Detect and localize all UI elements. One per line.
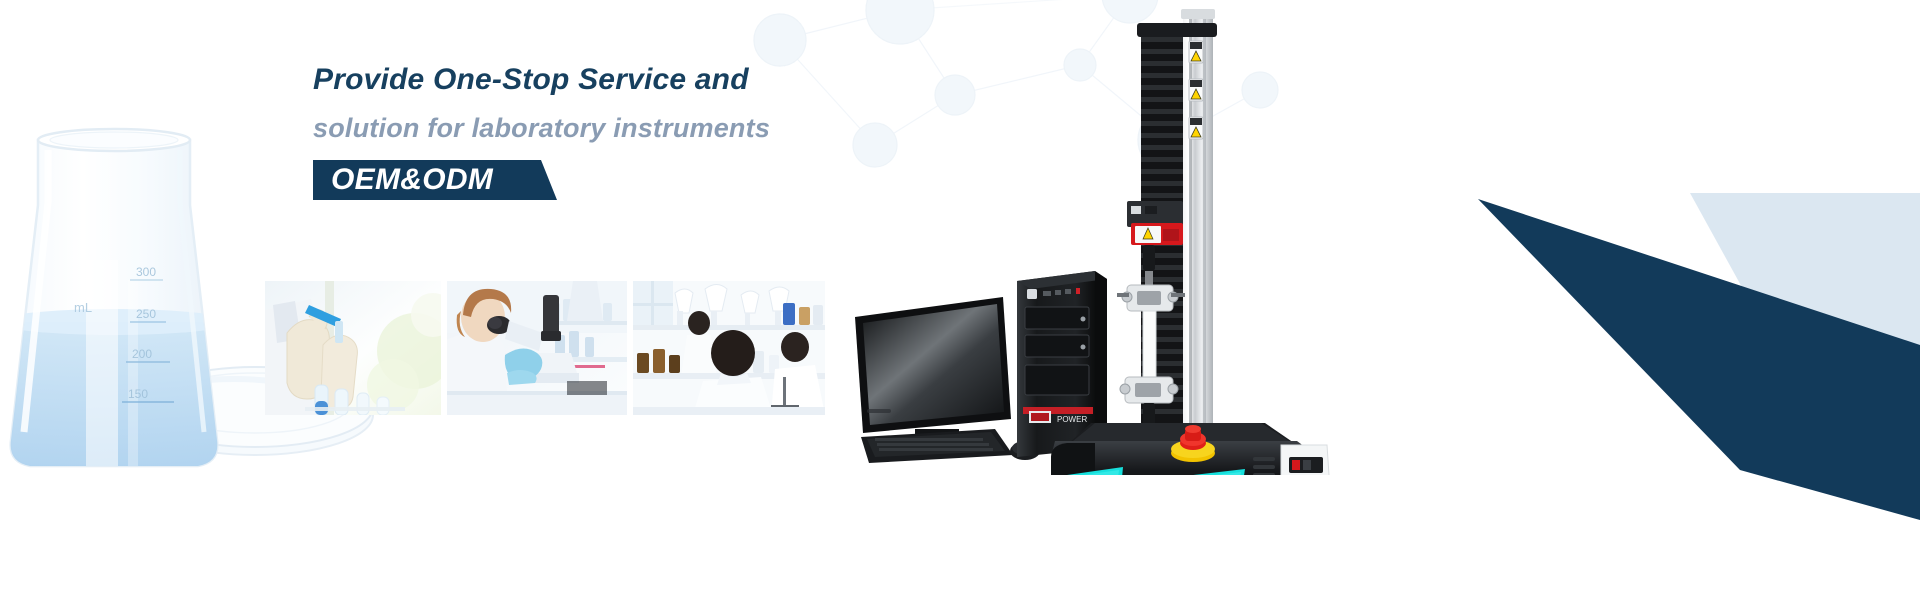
erlenmeyer-flask: 300 250 200 150 mL bbox=[0, 129, 233, 480]
headline-secondary: solution for laboratory instruments bbox=[313, 105, 933, 151]
svg-text:POWER: POWER bbox=[1057, 415, 1087, 424]
svg-text:mL: mL bbox=[74, 300, 92, 315]
headline-primary: Provide One-Stop Service and bbox=[313, 57, 933, 103]
keyboard bbox=[861, 429, 1013, 463]
svg-text:300: 300 bbox=[136, 265, 156, 279]
hardware-illustration: POWER bbox=[845, 5, 1445, 475]
base-led-strips bbox=[1065, 467, 1245, 475]
headline-block: Provide One-Stop Service and solution fo… bbox=[313, 57, 933, 200]
oem-odm-badge: OEM&ODM bbox=[313, 160, 527, 200]
warning-labels bbox=[1189, 41, 1203, 139]
photo-pipetting bbox=[265, 281, 441, 415]
crosshead bbox=[1127, 201, 1183, 245]
photo-microscope bbox=[447, 281, 627, 415]
hero-banner: 300 250 200 150 mL Provide One-Stop Serv… bbox=[0, 0, 1920, 597]
badge-label: OEM&ODM bbox=[313, 160, 527, 200]
svg-text:150: 150 bbox=[128, 387, 148, 401]
specimen-grips bbox=[1117, 245, 1185, 427]
emergency-stop-button bbox=[1171, 425, 1215, 462]
navy-arrow bbox=[1478, 199, 1920, 520]
svg-text:250: 250 bbox=[136, 307, 156, 321]
desktop-monitor bbox=[855, 297, 1011, 453]
lab-photo-strip bbox=[265, 281, 825, 415]
computer-tower: POWER bbox=[1017, 271, 1107, 457]
svg-text:200: 200 bbox=[132, 347, 152, 361]
universal-tensile-testing-machine bbox=[1051, 9, 1331, 475]
light-wedge bbox=[1690, 193, 1920, 440]
mouse bbox=[1010, 441, 1040, 460]
photo-lab-bench bbox=[633, 281, 825, 415]
